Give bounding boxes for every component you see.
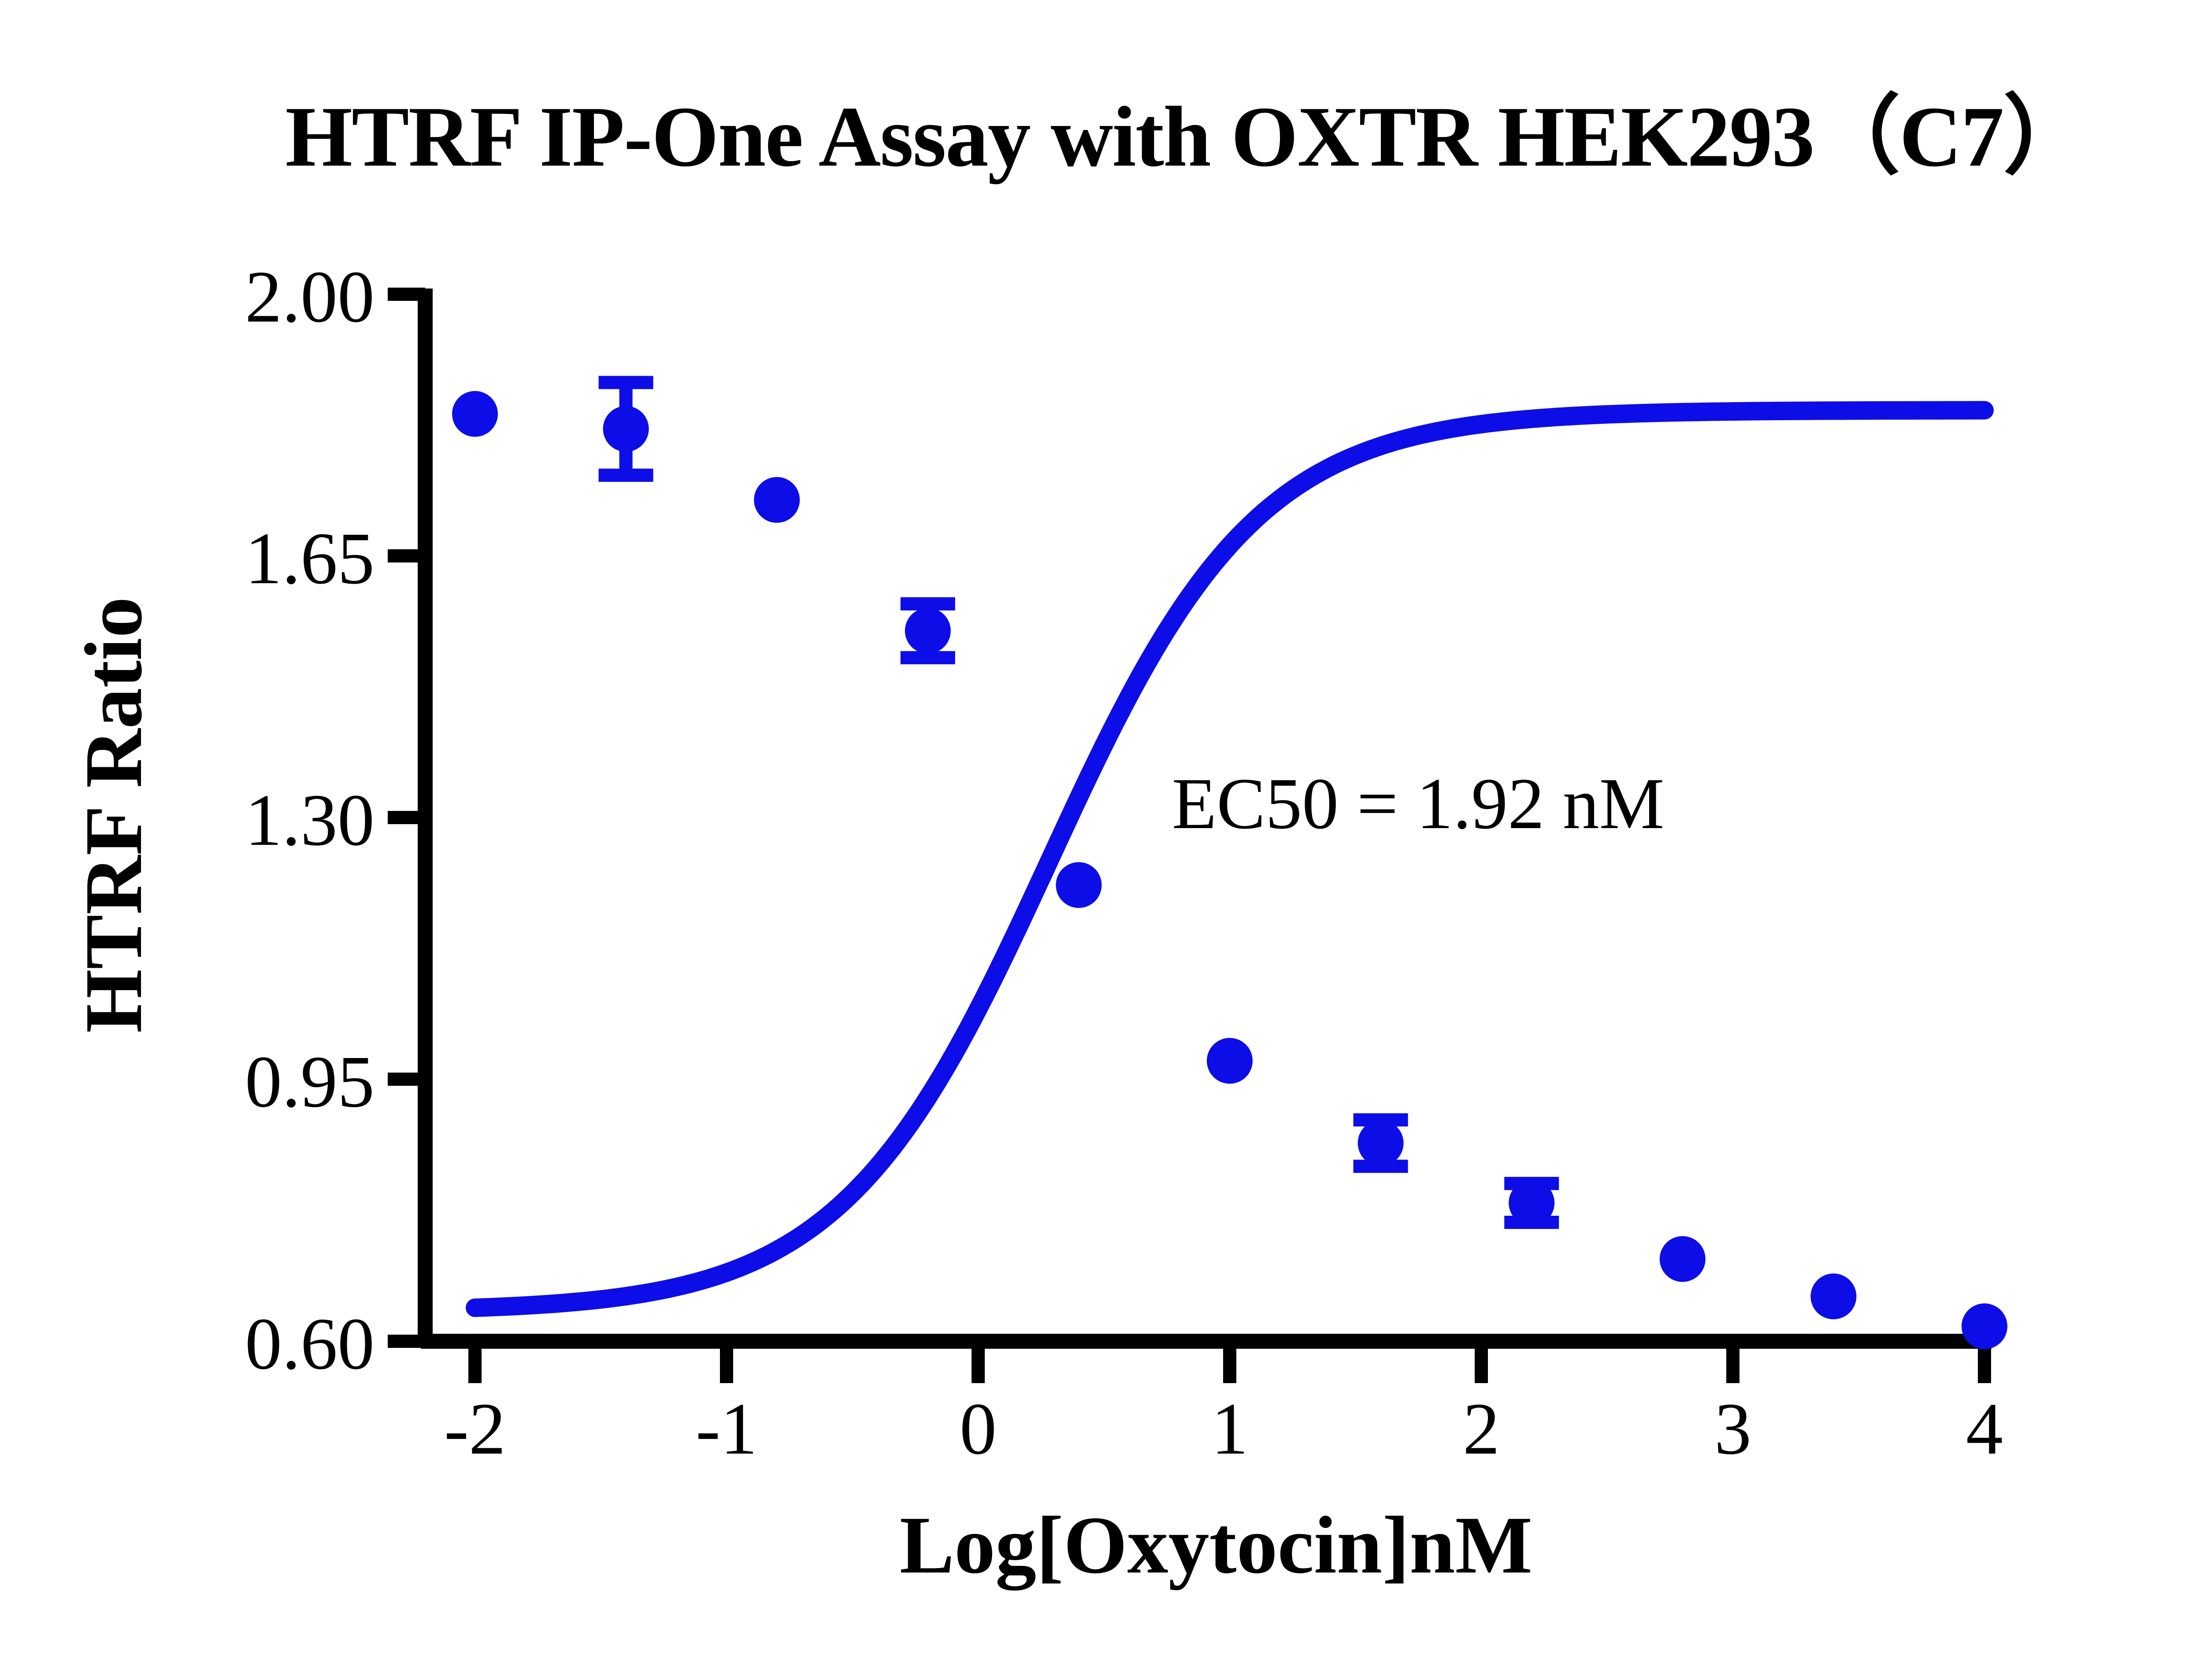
y-axis-title: HTRF Ratio (68, 597, 159, 1033)
ec50-annotation: EC50 = 1.92 nM (1172, 763, 1664, 844)
fit-curve-layer (475, 410, 1984, 1307)
data-point (905, 608, 951, 654)
y-tick-label: 2.00 (245, 256, 375, 338)
x-tick-label: -1 (696, 1388, 757, 1470)
y-tick-label: 1.65 (245, 518, 375, 599)
x-tick-label: 3 (1714, 1388, 1751, 1470)
plot-canvas: 2.00 1.65 1.30 0.95 0.60 -2 -1 0 1 2 3 4… (0, 0, 2203, 1680)
x-axis-title: Log[Oxytocin]nM (900, 1500, 1532, 1591)
data-point (1810, 1273, 1856, 1319)
data-point (1962, 1303, 2007, 1349)
data-point (1056, 862, 1101, 908)
data-point (1207, 1038, 1253, 1084)
y-tick-label: 0.60 (245, 1303, 375, 1385)
x-tick-label: 0 (960, 1388, 997, 1470)
x-tick-label: -2 (444, 1388, 506, 1470)
data-point (1509, 1180, 1554, 1226)
x-tick-label: 4 (1966, 1388, 2003, 1470)
data-point (603, 406, 649, 452)
data-point (1358, 1120, 1404, 1166)
fit-curve (475, 410, 1984, 1307)
chart-figure: HTRF IP-One Assay with OXTR HEK293（C7） (0, 0, 2203, 1680)
x-tick-labels: -2 -1 0 1 2 3 4 (444, 1388, 2003, 1470)
data-point (1660, 1236, 1706, 1282)
y-tick-label: 1.30 (245, 779, 375, 861)
data-point (452, 391, 498, 437)
x-tick-label: 2 (1463, 1388, 1500, 1470)
x-tick-label: 1 (1211, 1388, 1248, 1470)
data-point (754, 477, 800, 523)
y-tick-label: 0.95 (245, 1041, 375, 1123)
y-tick-labels: 2.00 1.65 1.30 0.95 0.60 (245, 256, 375, 1385)
